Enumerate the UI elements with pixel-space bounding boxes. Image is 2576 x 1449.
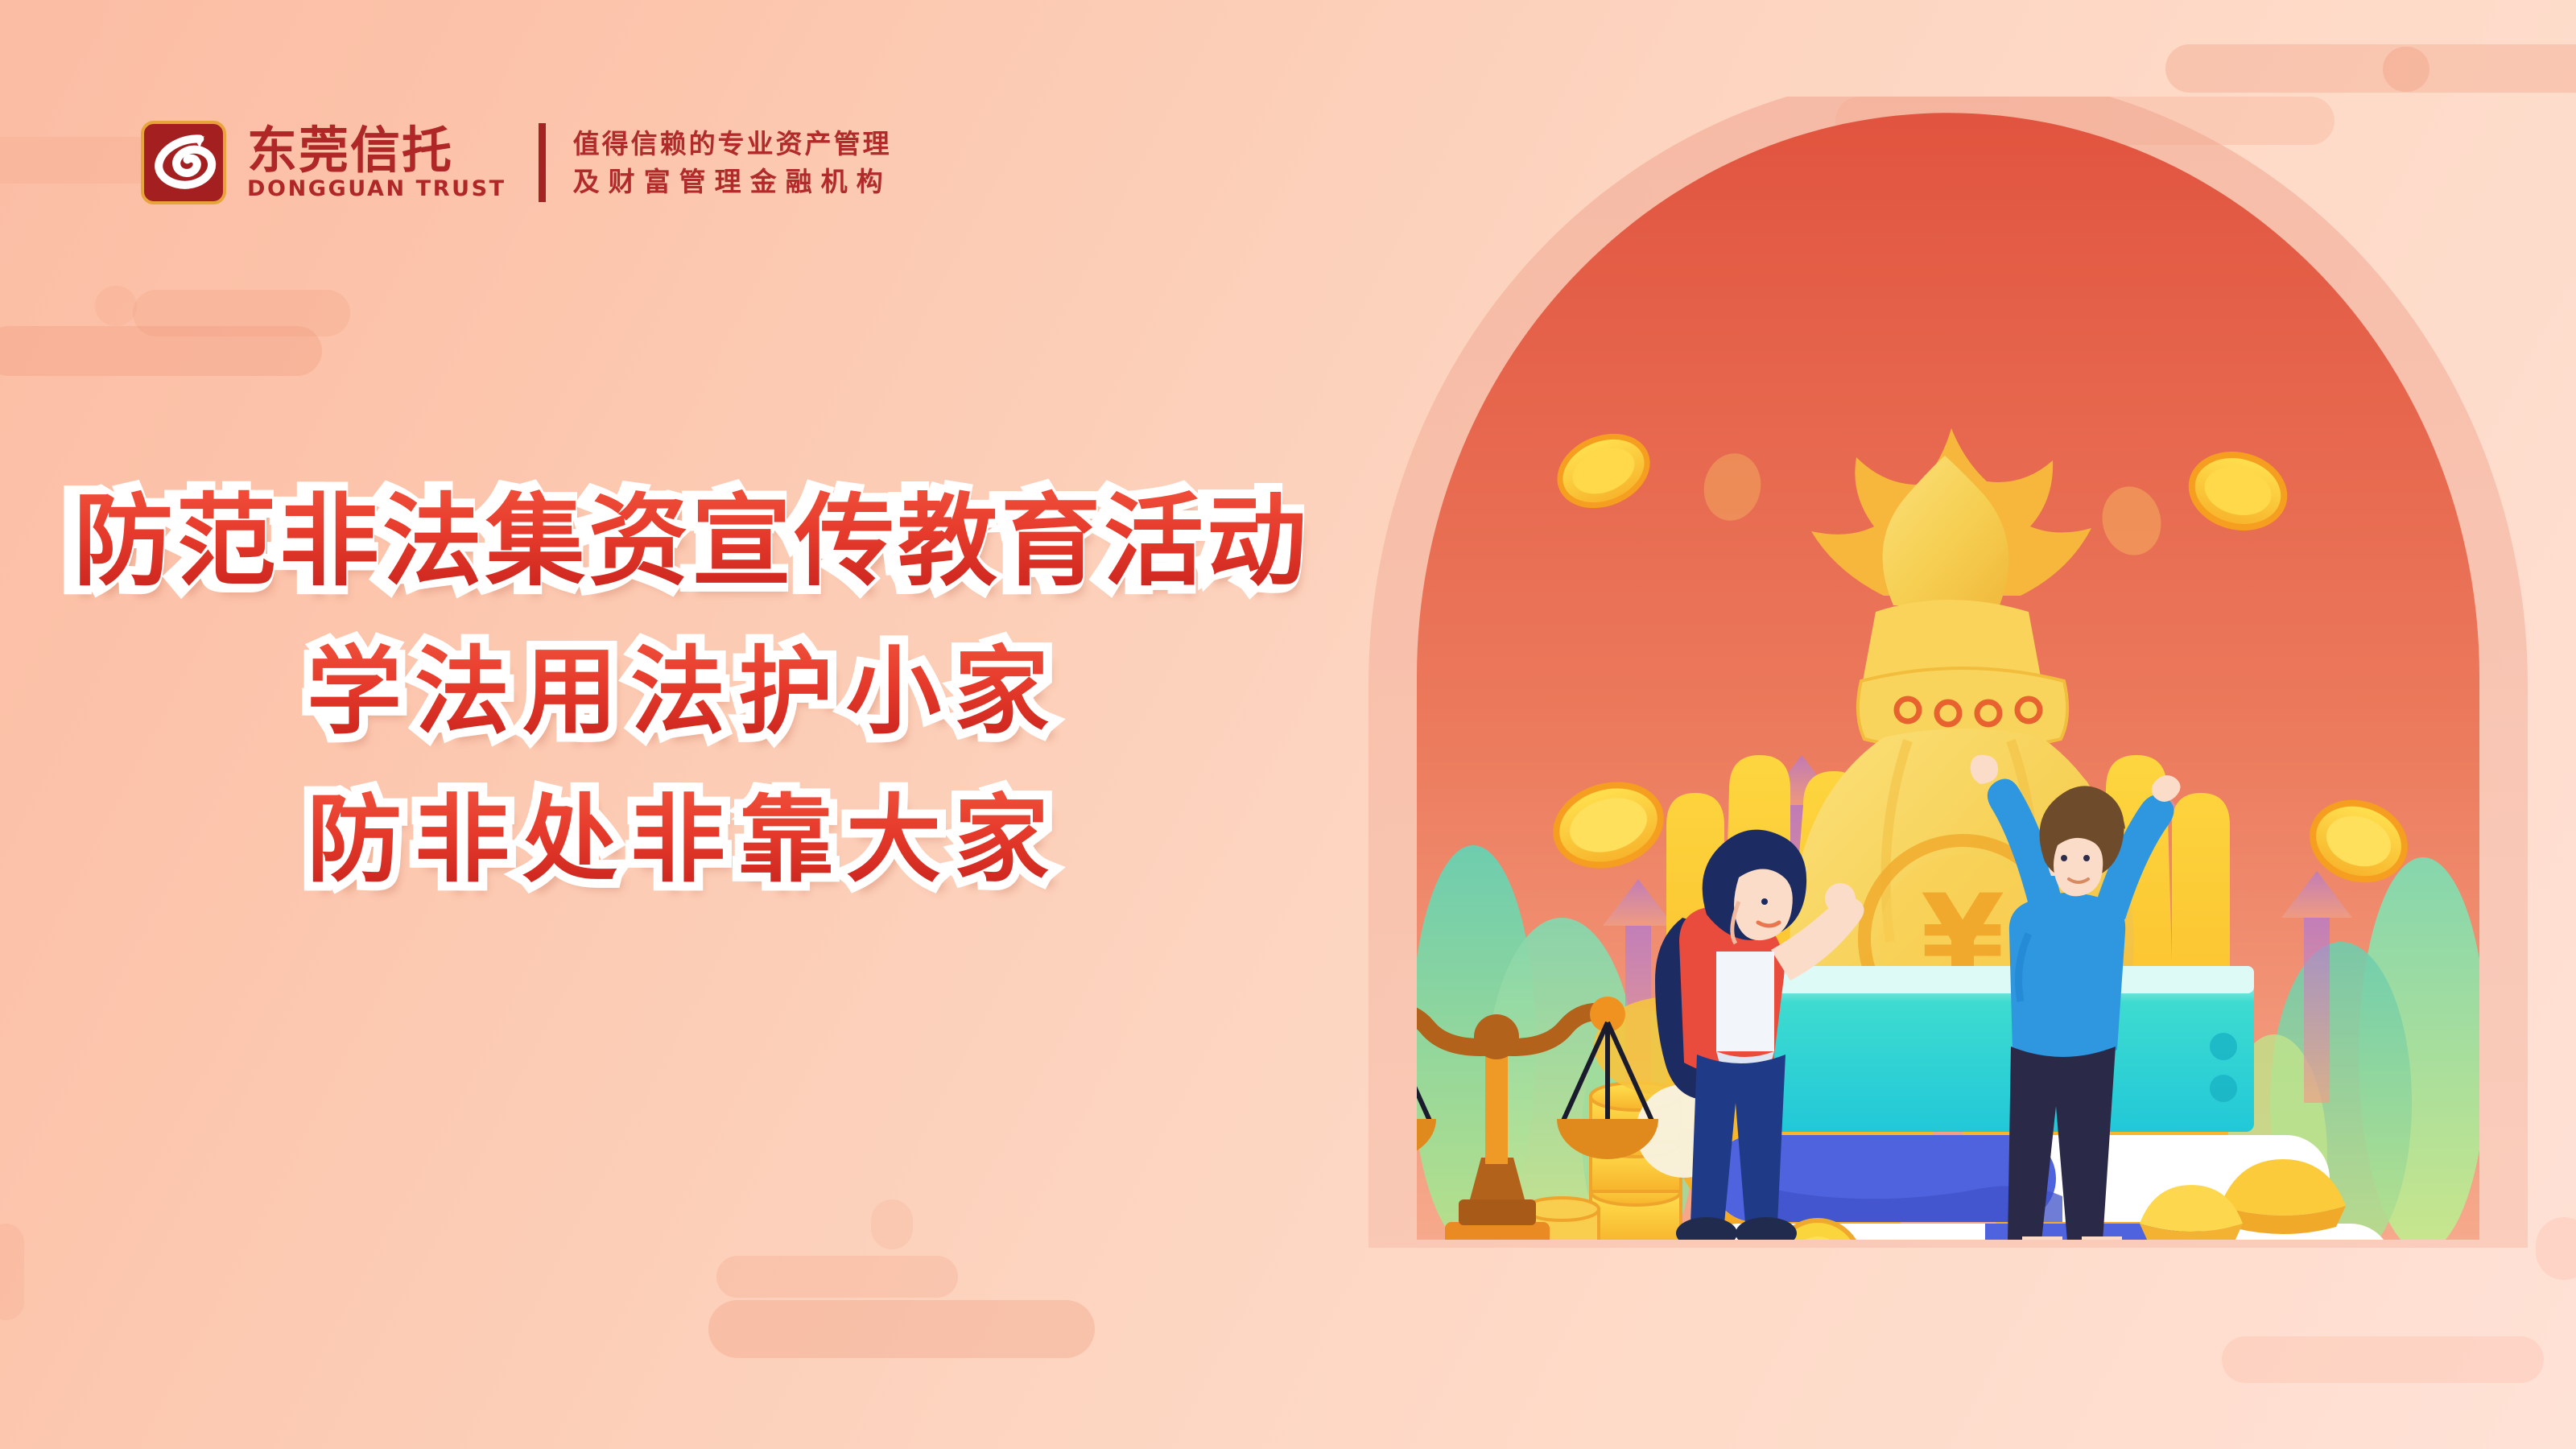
headline-line-1: 防范非法集资宣传教育活动 [14,483,1368,601]
deco-pill [708,1300,1095,1358]
brand-name-en: DONGGUAN TRUST [247,177,506,201]
deco-pill [0,137,161,184]
deco-dot [0,326,322,376]
headline-row-2: 学法用法护小家 学法用法护小家 [0,636,1368,748]
deco-dot [871,1199,913,1249]
brand-logo-lockup: 东莞信托 DONGGUAN TRUST 值得信赖的专业资产管理 及财富管理金融机… [141,121,892,204]
headline-block: 防范非法集资宣传教育活动 防范非法集资宣传教育活动 学法用法护小家 学法用法护小… [0,483,1368,914]
deco-dot [2383,47,2429,92]
headline-line-3: 防非处非靠大家 [0,784,1368,896]
deco-pill [133,290,350,336]
logo-divider [539,123,546,202]
deco-dot [95,286,137,326]
anti-illegal-fundraising-illustration: ¥ [1320,97,2576,1352]
tagline-line-2: 及财富管理金融机构 [573,168,892,195]
deco-pill [716,1256,958,1298]
tagline-line-1: 值得信赖的专业资产管理 [573,130,892,157]
headline-row-3: 防非处非靠大家 防非处非靠大家 [0,784,1368,896]
headline-row-1: 防范非法集资宣传教育活动 防范非法集资宣传教育活动 [0,483,1368,601]
brand-tagline: 值得信赖的专业资产管理 及财富管理金融机构 [573,130,892,195]
deco-pill [2165,44,2576,93]
dongguan-trust-monogram-icon [141,121,226,204]
brand-name-cn: 东莞信托 [247,125,506,175]
deco-dot [0,1224,24,1320]
brand-wordmark: 东莞信托 DONGGUAN TRUST [247,125,506,201]
headline-line-2: 学法用法护小家 [0,636,1368,748]
promo-banner: 东莞信托 DONGGUAN TRUST 值得信赖的专业资产管理 及财富管理金融机… [0,0,2576,1449]
